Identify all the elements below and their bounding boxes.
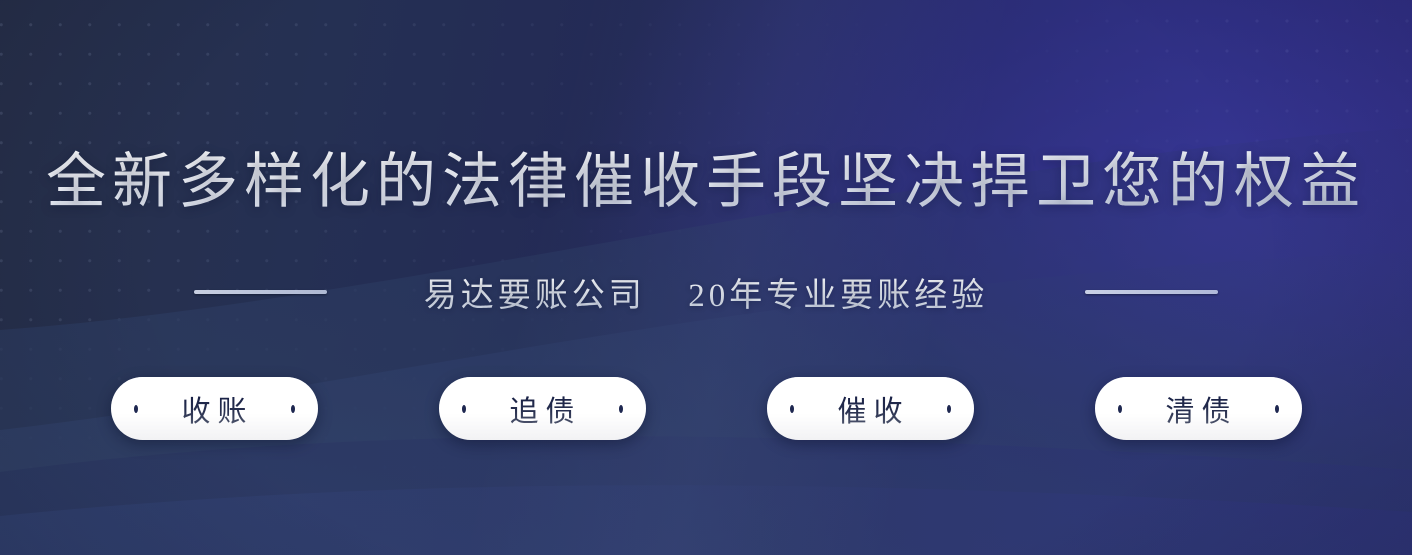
service-pill-label: 清债 xyxy=(1158,388,1237,430)
promo-banner: 全新多样化的法律催收手段坚决捍卫您的权益 易达要账公司 20年专业要账经验 收账… xyxy=(0,0,1412,555)
service-pill-label: 收账 xyxy=(174,388,253,430)
banner-headline: 全新多样化的法律催收手段坚决捍卫您的权益 xyxy=(0,148,1412,218)
dot-icon-right xyxy=(947,405,951,413)
service-pill-row: 收账 追债 催收 清债 xyxy=(0,377,1412,440)
dot-icon-left xyxy=(134,405,138,413)
service-pill-shouzhang[interactable]: 收账 xyxy=(111,377,318,440)
subtitle-company: 易达要账公司 xyxy=(424,278,646,314)
rule-left xyxy=(194,290,327,294)
dot-icon-left xyxy=(462,405,466,413)
dot-icon-left xyxy=(1118,405,1122,413)
dot-icon-right xyxy=(291,405,295,413)
subtitle-experience: 20年专业要账经验 xyxy=(688,278,988,314)
rule-right xyxy=(1085,290,1218,294)
service-pill-qingzhai[interactable]: 清债 xyxy=(1095,377,1302,440)
service-pill-label: 催收 xyxy=(830,388,909,430)
service-pill-zhuizhai[interactable]: 追债 xyxy=(439,377,646,440)
subtitle-row: 易达要账公司 20年专业要账经验 xyxy=(0,268,1412,316)
service-pill-cuishou[interactable]: 催收 xyxy=(767,377,974,440)
dot-icon-right xyxy=(619,405,623,413)
dot-icon-right xyxy=(1275,405,1279,413)
banner-subtitle: 易达要账公司 20年专业要账经验 xyxy=(424,268,989,316)
dot-icon-left xyxy=(790,405,794,413)
service-pill-label: 追债 xyxy=(502,388,581,430)
